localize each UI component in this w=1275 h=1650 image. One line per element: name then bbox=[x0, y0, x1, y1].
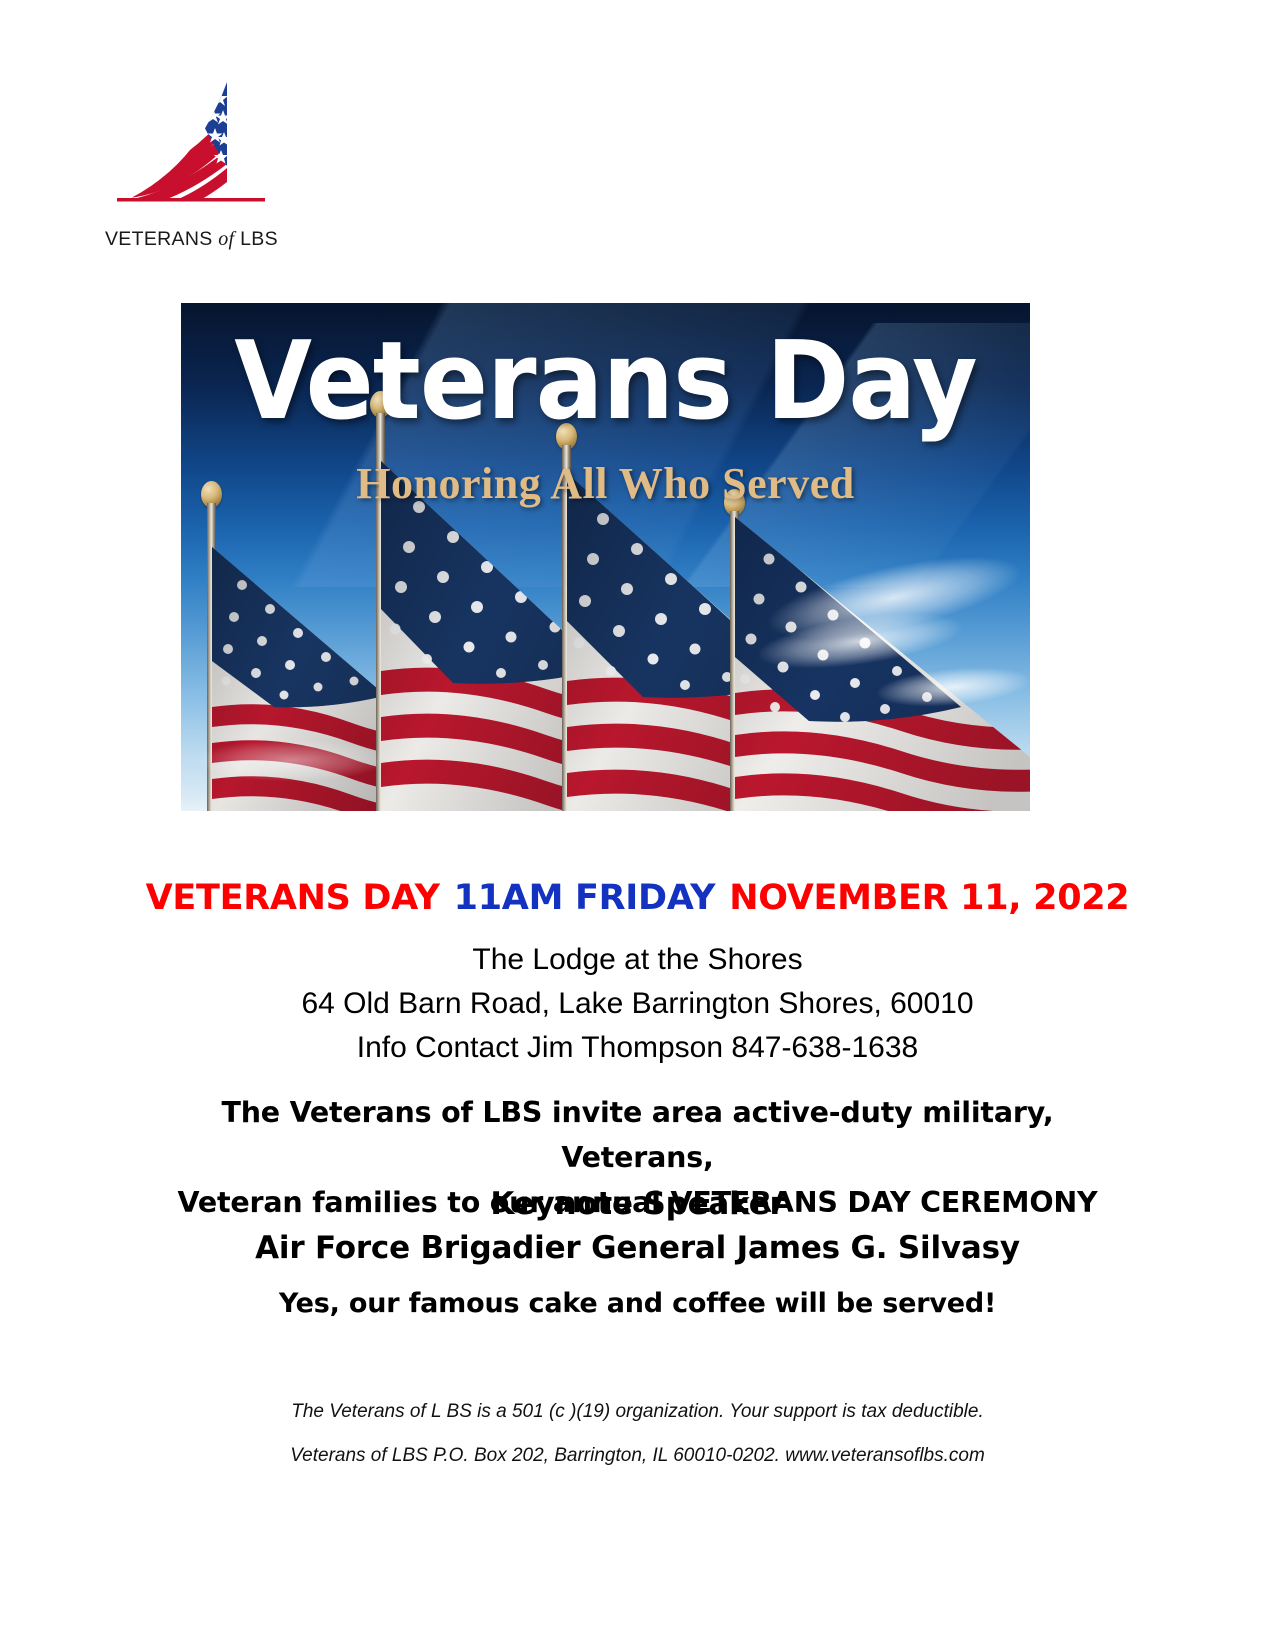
logo-caption: VETERANS of LBS bbox=[105, 228, 415, 251]
footer-line-1: The Veterans of L BS is a 501 (c )(19) o… bbox=[150, 1390, 1125, 1434]
event-details: The Lodge at the Shores 64 Old Barn Road… bbox=[0, 938, 1275, 1070]
logo-caption-part2: LBS bbox=[234, 228, 277, 250]
logo-caption-italic: of bbox=[218, 228, 234, 250]
event-headline: VETERANS DAY11AM FRIDAYNOVEMBER 11, 2022 bbox=[0, 878, 1275, 918]
banner-title: Veterans Day bbox=[211, 325, 1001, 438]
footer-line-2: Veterans of LBS P.O. Box 202, Barrington… bbox=[150, 1434, 1125, 1478]
refreshments-note: Yes, our famous cake and coffee will be … bbox=[150, 1288, 1125, 1319]
footer-legal: The Veterans of L BS is a 501 (c )(19) o… bbox=[150, 1390, 1125, 1478]
logo-caption-part1: VETERANS bbox=[105, 228, 218, 250]
headline-date: NOVEMBER 11, 2022 bbox=[729, 878, 1129, 918]
headline-time: 11AM FRIDAY bbox=[454, 878, 716, 918]
venue-address: 64 Old Barn Road, Lake Barrington Shores… bbox=[0, 982, 1275, 1026]
organization-logo: VETERANS of LBS bbox=[105, 80, 415, 251]
keynote-label: Keynote Speaker bbox=[150, 1182, 1125, 1226]
invitation-line-1: The Veterans of LBS invite area active-d… bbox=[150, 1090, 1125, 1180]
keynote-speaker-name: Air Force Brigadier General James G. Sil… bbox=[150, 1226, 1125, 1270]
usa-flag-sail-icon bbox=[115, 80, 265, 220]
keynote-block: Keynote Speaker Air Force Brigadier Gene… bbox=[150, 1182, 1125, 1270]
contact-info: Info Contact Jim Thompson 847-638-1638 bbox=[0, 1026, 1275, 1070]
banner-subtitle: Honoring All Who Served bbox=[181, 458, 1030, 509]
flag-cloth bbox=[735, 511, 1030, 811]
veterans-day-banner-image: Veterans Day Honoring All Who Served bbox=[181, 303, 1030, 811]
venue-name: The Lodge at the Shores bbox=[0, 938, 1275, 982]
headline-event: VETERANS DAY bbox=[146, 878, 440, 918]
